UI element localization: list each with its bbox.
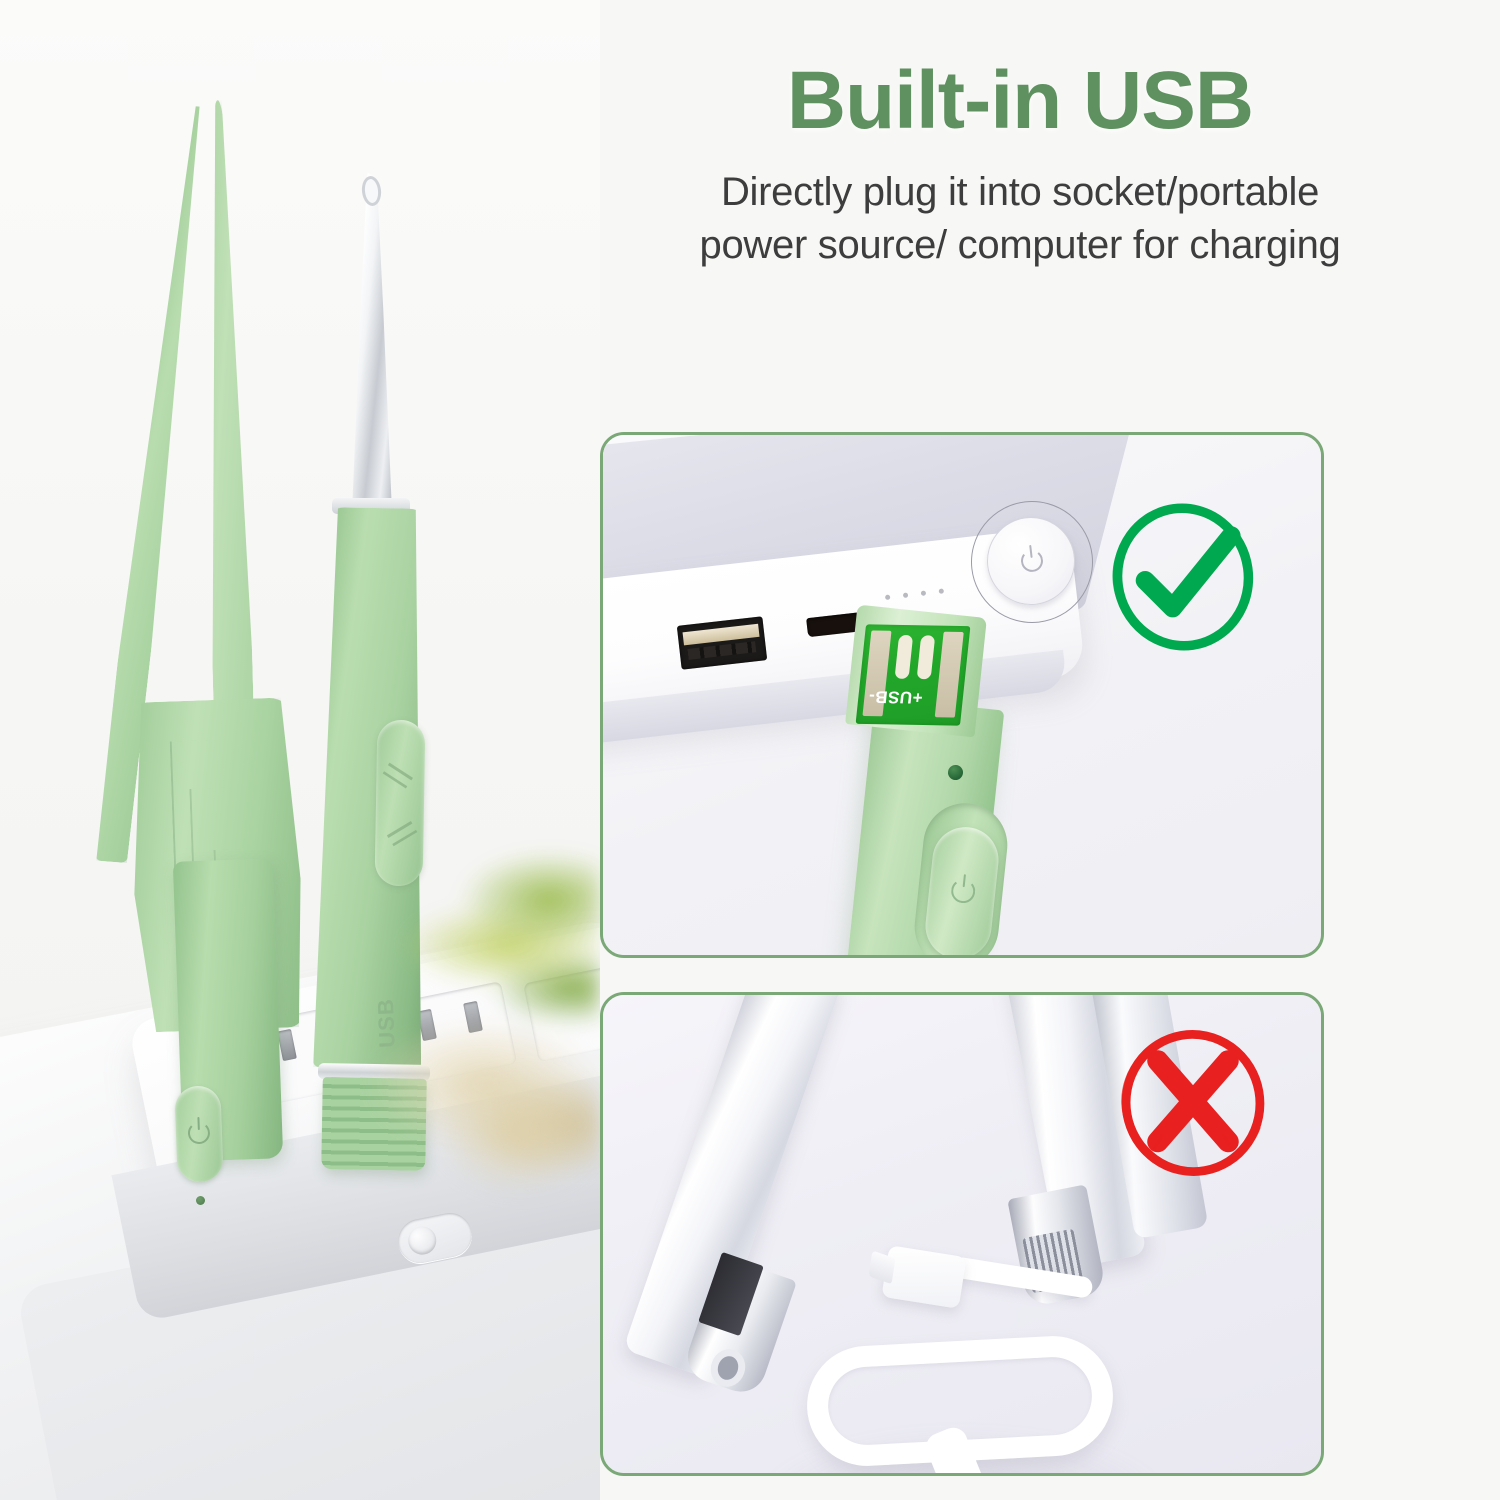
subtitle-line-1: Directly plug it into socket/portable [570, 166, 1470, 219]
usb-plug-label: +USB- [868, 686, 924, 707]
subtitle-line-2: power source/ computer for charging [570, 219, 1470, 272]
cross-badge [1105, 1015, 1281, 1191]
blurred-plant-pot [400, 1060, 600, 1240]
power-icon [950, 878, 976, 904]
led-dot [921, 591, 927, 597]
device-usb-connector: +USB- [856, 624, 971, 725]
usb-contact-pad [935, 632, 964, 718]
tweezer-led-indicator [196, 1196, 205, 1205]
checkmark-badge [1097, 491, 1269, 663]
pick-loop-icon [360, 175, 382, 207]
header-block: Built-in USB Directly plug it into socke… [570, 58, 1470, 272]
usb-slot [895, 635, 914, 679]
infographic-root: USB Built-in USB Directly plug it into s… [0, 0, 1500, 1500]
tweezer-power-button[interactable] [174, 1085, 223, 1183]
page-title: Built-in USB [570, 58, 1470, 144]
page-subtitle: Directly plug it into socket/portable po… [570, 166, 1470, 272]
power-icon [1020, 549, 1044, 573]
led-dot [939, 589, 945, 595]
led-dot [903, 593, 909, 599]
led-dot [885, 595, 891, 601]
check-icon [1097, 491, 1269, 663]
cross-icon [1105, 1015, 1281, 1191]
pick-metal-tip [352, 172, 392, 512]
panel-correct-usage: +USB- [600, 432, 1324, 958]
scene-power-bank: +USB- [603, 435, 1321, 955]
power-icon [188, 1122, 211, 1145]
panel-incorrect-usage [600, 992, 1324, 1476]
scene-cable-charging [603, 995, 1321, 1473]
micro-usb-connector [881, 1245, 966, 1309]
hero-product-photo: USB [0, 0, 600, 1500]
usb-slot [917, 635, 936, 679]
